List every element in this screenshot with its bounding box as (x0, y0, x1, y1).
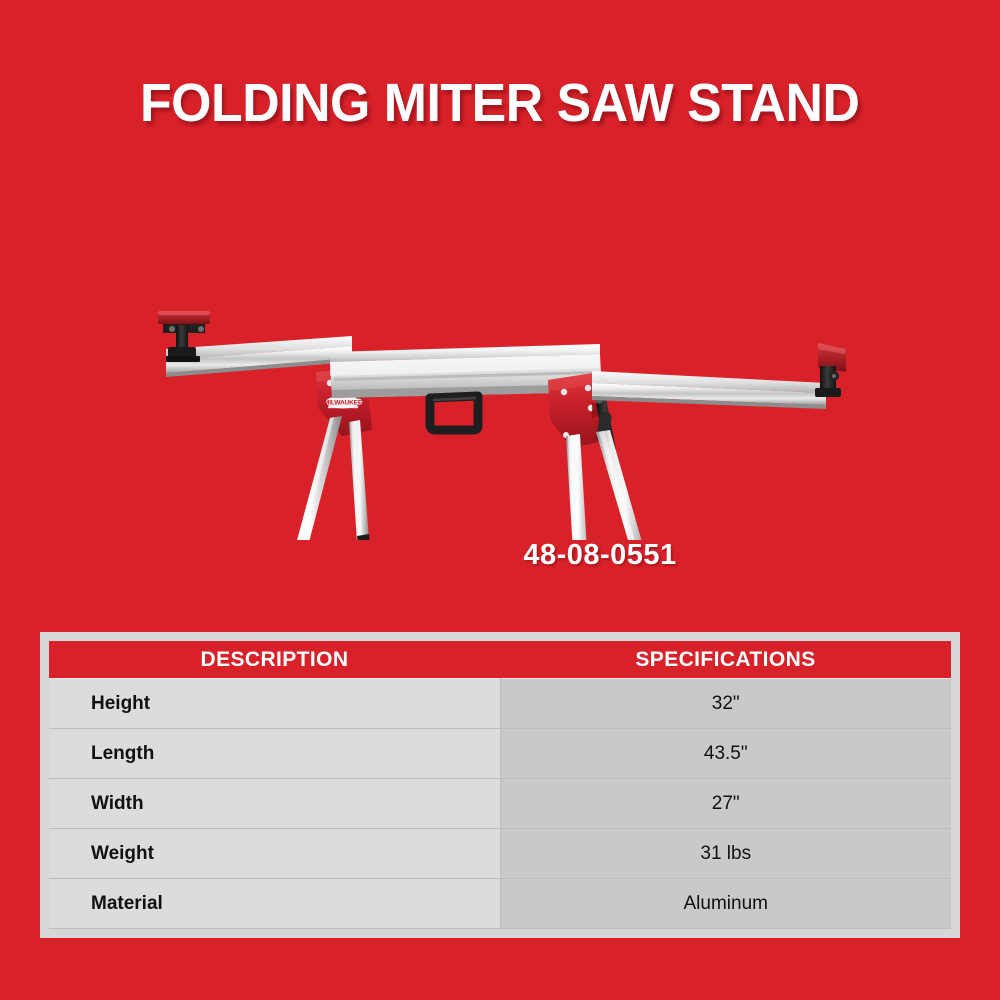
cell-specification-height: 32" (500, 679, 951, 729)
right-extension-arm (592, 371, 826, 409)
cell-specification-material: Aluminum (500, 879, 951, 929)
table-row: Width 27" (49, 779, 951, 829)
spec-table-head: DESCRIPTION SPECIFICATIONS (49, 641, 951, 679)
table-row: Length 43.5" (49, 729, 951, 779)
right-leg-front (566, 434, 592, 540)
cell-description-width: Width (49, 779, 500, 829)
cell-description-height: Height (49, 679, 500, 729)
product-illustration: MILWAUKEE (0, 140, 1000, 540)
column-header-description: DESCRIPTION (49, 641, 500, 679)
spec-table-frame: DESCRIPTION SPECIFICATIONS Height 32" Le… (40, 632, 960, 938)
cell-specification-width: 27" (500, 779, 951, 829)
svg-text:MILWAUKEE: MILWAUKEE (324, 400, 363, 407)
left-leg-rear (349, 420, 370, 540)
model-number-container: 48-08-0551 (0, 538, 1000, 572)
cell-description-weight: Weight (49, 829, 500, 879)
spec-table-header-row: DESCRIPTION SPECIFICATIONS (49, 641, 951, 679)
product-image-container: MILWAUKEE (0, 140, 1000, 540)
cell-specification-length: 43.5" (500, 729, 951, 779)
left-leg-front (283, 416, 342, 540)
right-material-stop (815, 343, 846, 397)
right-leg-rear (596, 430, 654, 540)
carry-handle (430, 396, 478, 430)
cell-description-material: Material (49, 879, 500, 929)
spec-table-body: Height 32" Length 43.5" Width 27" Weight… (49, 679, 951, 929)
column-header-specifications: SPECIFICATIONS (500, 641, 951, 679)
cell-description-length: Length (49, 729, 500, 779)
spec-table: DESCRIPTION SPECIFICATIONS Height 32" Le… (49, 641, 951, 929)
table-row: Weight 31 lbs (49, 829, 951, 879)
cell-specification-weight: 31 lbs (500, 829, 951, 879)
model-number: 48-08-0551 (523, 538, 676, 572)
table-row: Height 32" (49, 679, 951, 729)
page-title: FOLDING MITER SAW STAND (140, 74, 859, 132)
table-row: Material Aluminum (49, 879, 951, 929)
